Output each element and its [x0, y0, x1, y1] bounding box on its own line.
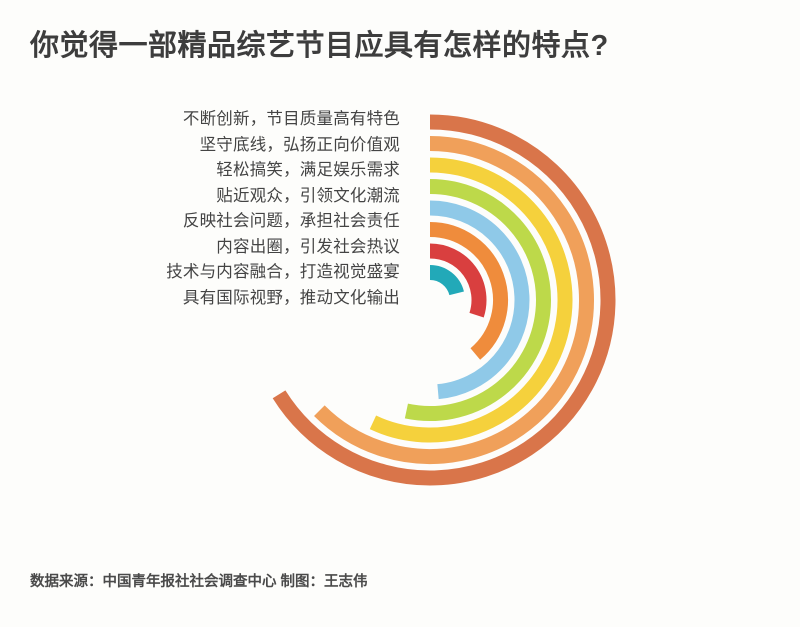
category-label: 技术与内容融合，打造视觉盛宴	[90, 260, 400, 286]
chart-page: 你觉得一部精品综艺节目应具有怎样的特点? 不断创新，节目质量高有特色 坚守底线，…	[0, 0, 800, 627]
category-label: 贴近观众，引领文化潮流	[90, 184, 400, 210]
category-label: 反映社会问题，承担社会责任	[90, 209, 400, 235]
data-source-footer: 数据来源：中国青年报社社会调查中心 制图：王志伟	[30, 570, 368, 591]
category-label: 坚守底线，弘扬正向价值观	[90, 133, 400, 159]
page-title: 你觉得一部精品综艺节目应具有怎样的特点?	[30, 22, 609, 64]
category-label: 具有国际视野，推动文化输出	[90, 286, 400, 312]
category-label: 内容出圈，引发社会热议	[90, 235, 400, 261]
category-label: 不断创新，节目质量高有特色	[90, 107, 400, 133]
category-label: 轻松搞笑，满足娱乐需求	[90, 158, 400, 184]
category-label-list: 不断创新，节目质量高有特色 坚守底线，弘扬正向价值观 轻松搞笑，满足娱乐需求 贴…	[90, 107, 400, 311]
radial-bar-arc	[430, 273, 457, 294]
